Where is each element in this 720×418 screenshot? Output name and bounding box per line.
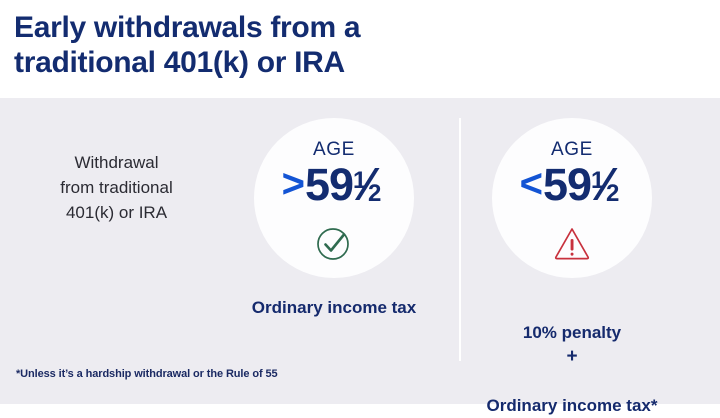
fraction-denominator: 2 <box>606 182 619 206</box>
footnote: *Unless it’s a hardship withdrawal or th… <box>16 368 278 380</box>
column-over-age: AGE > 59 1 ⁄ 2 Ordinary income tax <box>210 110 458 321</box>
caption-plus-sign: + <box>448 345 696 369</box>
fraction-one-half: 1 ⁄ 2 <box>591 161 624 208</box>
fraction-denominator: 2 <box>368 182 381 206</box>
infographic-root: Early withdrawals from a traditional 401… <box>0 0 720 404</box>
fraction-one-half: 1 ⁄ 2 <box>353 161 386 208</box>
page-title: Early withdrawals from a traditional 401… <box>14 10 720 81</box>
age-circle-under: AGE < 59 1 ⁄ 2 <box>492 118 652 278</box>
caption-over-age: Ordinary income tax <box>210 296 458 321</box>
withdrawal-source-block: Withdrawal from traditional 401(k) or IR… <box>14 150 219 225</box>
caption-under-age: 10% penalty + Ordinary income tax* <box>448 296 696 418</box>
caption-penalty: 10% penalty <box>523 323 621 342</box>
check-circle-icon <box>313 222 355 264</box>
warning-triangle-icon <box>551 222 593 264</box>
age-label: AGE <box>313 140 355 159</box>
comparator-less-than: < <box>520 164 542 204</box>
column-under-age: AGE < 59 1 ⁄ 2 10% penalty + <box>448 110 696 418</box>
age-threshold-value: > 59 1 ⁄ 2 <box>282 161 387 208</box>
comparator-greater-than: > <box>282 164 304 204</box>
header: Early withdrawals from a traditional 401… <box>0 0 720 98</box>
age-circle-over: AGE > 59 1 ⁄ 2 <box>254 118 414 278</box>
age-threshold-value: < 59 1 ⁄ 2 <box>520 161 625 208</box>
age-number: 59 <box>543 162 591 208</box>
withdrawal-source-label: Withdrawal from traditional 401(k) or IR… <box>14 150 219 225</box>
caption-income-tax: Ordinary income tax* <box>486 396 657 415</box>
age-number: 59 <box>305 162 353 208</box>
age-label: AGE <box>551 140 593 159</box>
